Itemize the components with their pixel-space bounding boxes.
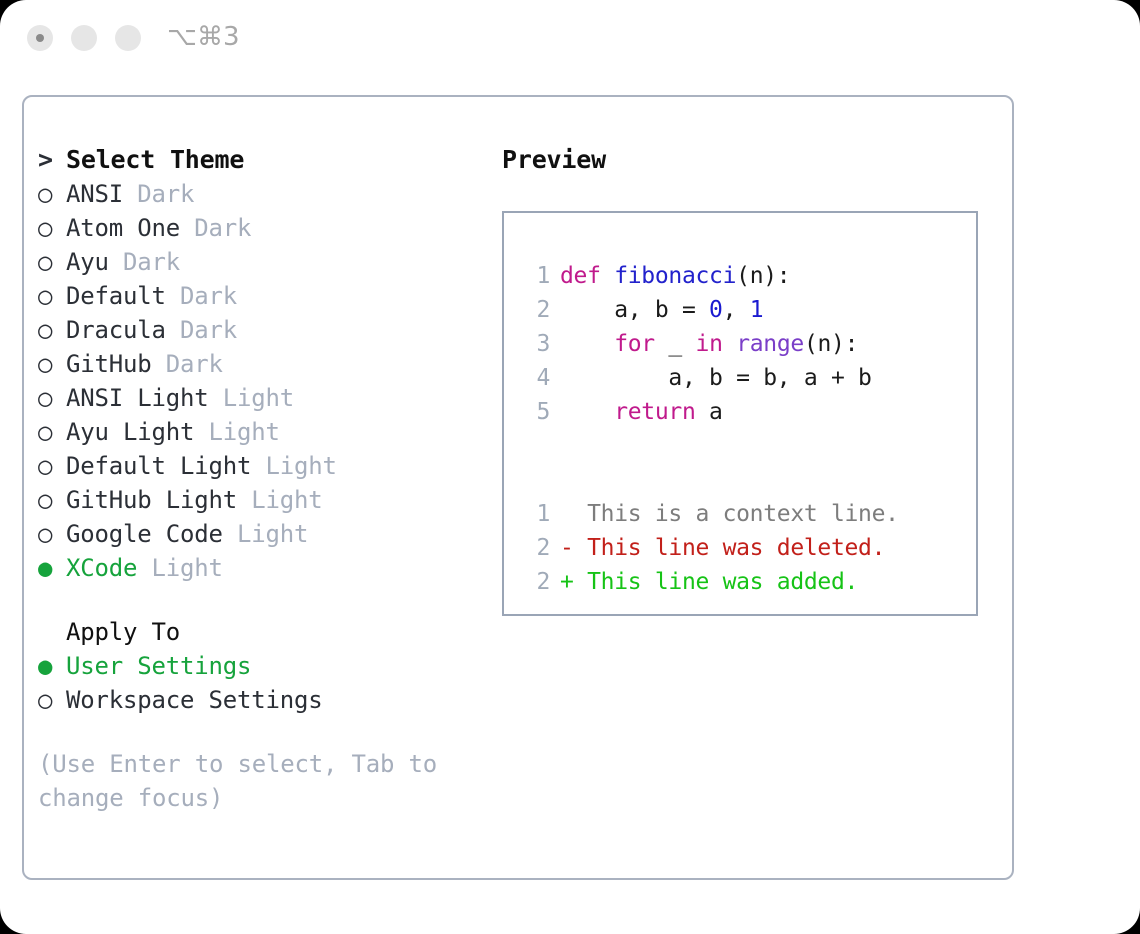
- code-number: 0: [709, 297, 723, 323]
- code-builtin: range: [736, 331, 804, 357]
- diff-sign: [560, 501, 587, 527]
- diff-text: This line was added.: [587, 569, 858, 595]
- preview-title: Preview: [502, 143, 1002, 177]
- code-text: ,: [723, 297, 750, 323]
- diff-line-deleted: 2- This line was deleted.: [504, 531, 976, 565]
- diff-line-context: 1 This is a context line.: [504, 497, 976, 531]
- list-item[interactable]: ○Atom One Dark: [38, 211, 488, 245]
- code-text: a, b = b, a + b: [668, 365, 871, 391]
- list-item[interactable]: ○Ayu Light Light: [38, 415, 488, 449]
- radio-icon[interactable]: ○: [38, 347, 66, 381]
- list-item[interactable]: ○Dracula Dark: [38, 313, 488, 347]
- radio-icon[interactable]: ○: [38, 245, 66, 279]
- code-keyword: def: [560, 263, 614, 289]
- line-number: 2: [526, 531, 550, 565]
- list-item[interactable]: ○GitHub Light Light: [38, 483, 488, 517]
- line-number: 1: [526, 259, 550, 293]
- theme-tag: Light: [266, 452, 337, 480]
- theme-tag: Dark: [180, 282, 237, 310]
- list-item[interactable]: ○Default Light Light: [38, 449, 488, 483]
- theme-name: ANSI Light: [66, 384, 209, 412]
- keyboard-hint: (Use Enter to select, Tab to change focu…: [38, 747, 448, 815]
- code-text: a, b =: [614, 297, 709, 323]
- cursor-marker: >: [38, 143, 66, 177]
- apply-to-option-user[interactable]: ●User Settings: [38, 649, 488, 683]
- code-text: _: [655, 331, 696, 357]
- code-function-name: fibonacci: [614, 263, 736, 289]
- code-text: a: [696, 399, 723, 425]
- spacer: [38, 717, 488, 747]
- radio-icon[interactable]: ○: [38, 683, 66, 717]
- theme-name: Ayu: [66, 248, 109, 276]
- line-number: 5: [526, 395, 550, 429]
- code-line: 4 a, b = b, a + b: [504, 361, 976, 395]
- line-number: 2: [526, 293, 550, 327]
- diff-sign: +: [560, 569, 587, 595]
- code-number: 1: [750, 297, 764, 323]
- theme-name: Atom One: [66, 214, 180, 242]
- close-button[interactable]: [27, 25, 53, 51]
- theme-name: XCode: [66, 554, 137, 582]
- code-line: 5 return a: [504, 395, 976, 429]
- diff-sign: -: [560, 535, 587, 561]
- radio-icon[interactable]: ○: [38, 279, 66, 313]
- code-text: (n):: [736, 263, 790, 289]
- theme-tag: Dark: [137, 180, 194, 208]
- code-indent: [560, 399, 614, 425]
- radio-icon[interactable]: ○: [38, 313, 66, 347]
- radio-icon[interactable]: ○: [38, 211, 66, 245]
- preview-column: Preview 1def fibonacci(n): 2 a, b = 0, 1…: [502, 143, 1002, 616]
- code-text: [723, 331, 737, 357]
- theme-name: GitHub Light: [66, 486, 237, 514]
- radio-icon[interactable]: ○: [38, 483, 66, 517]
- code-line: 2 a, b = 0, 1: [504, 293, 976, 327]
- keyboard-hint-line-2: change focus): [38, 781, 448, 815]
- theme-tag: Dark: [166, 350, 223, 378]
- code-text: (n):: [804, 331, 858, 357]
- line-number: 2: [526, 565, 550, 599]
- window-controls: [27, 25, 141, 51]
- code-keyword: return: [614, 399, 695, 425]
- code-line: 1def fibonacci(n):: [504, 259, 976, 293]
- theme-tag: Light: [237, 520, 308, 548]
- code-indent: [560, 365, 668, 391]
- theme-tag: Light: [209, 418, 280, 446]
- apply-to-option-label: Workspace Settings: [66, 686, 323, 714]
- theme-tag: Dark: [123, 248, 180, 276]
- theme-tag: Light: [223, 384, 294, 412]
- diff-line-added: 2+ This line was added.: [504, 565, 976, 599]
- title-bar: ⌥⌘3: [0, 0, 1140, 78]
- apply-to-option-label: User Settings: [66, 652, 251, 680]
- list-item[interactable]: ○Ayu Dark: [38, 245, 488, 279]
- select-theme-title: Select Theme: [66, 145, 244, 174]
- keyboard-hint-line-1: (Use Enter to select, Tab to: [38, 747, 448, 781]
- theme-name: Ayu Light: [66, 418, 194, 446]
- minimize-button[interactable]: [71, 25, 97, 51]
- list-item[interactable]: ○ANSI Dark: [38, 177, 488, 211]
- theme-name: GitHub: [66, 350, 152, 378]
- radio-icon-selected[interactable]: ●: [38, 649, 66, 683]
- line-number: 1: [526, 497, 550, 531]
- diff-text: This is a context line.: [587, 501, 899, 527]
- select-theme-header: >Select Theme: [38, 143, 488, 177]
- theme-picker-column: >Select Theme ○ANSI Dark ○Atom One Dark …: [38, 143, 488, 815]
- maximize-button[interactable]: [115, 25, 141, 51]
- code-line: 3 for _ in range(n):: [504, 327, 976, 361]
- theme-name: Default Light: [66, 452, 251, 480]
- radio-icon[interactable]: ○: [38, 415, 66, 449]
- list-item[interactable]: ○ANSI Light Light: [38, 381, 488, 415]
- radio-icon[interactable]: ○: [38, 177, 66, 211]
- theme-name: Google Code: [66, 520, 223, 548]
- theme-tag: Dark: [180, 316, 237, 344]
- diff-text: This line was deleted.: [587, 535, 885, 561]
- list-item[interactable]: ○Default Dark: [38, 279, 488, 313]
- theme-name: ANSI: [66, 180, 123, 208]
- radio-icon[interactable]: ○: [38, 381, 66, 415]
- code-keyword: for: [614, 331, 655, 357]
- code-blank-line: [504, 463, 976, 497]
- apply-to-option-workspace[interactable]: ○Workspace Settings: [38, 683, 488, 717]
- spacer: [38, 585, 488, 615]
- code-indent: [560, 331, 614, 357]
- theme-name: Default: [66, 282, 166, 310]
- line-number: 4: [526, 361, 550, 395]
- code-blank-line: [504, 429, 976, 463]
- keyboard-shortcut-label: ⌥⌘3: [167, 22, 240, 52]
- line-number: 3: [526, 327, 550, 361]
- theme-tag: Dark: [194, 214, 251, 242]
- code-keyword: in: [696, 331, 723, 357]
- radio-icon[interactable]: ○: [38, 517, 66, 551]
- list-item[interactable]: ○GitHub Dark: [38, 347, 488, 381]
- list-item[interactable]: ○Google Code Light: [38, 517, 488, 551]
- theme-tag: Light: [251, 486, 322, 514]
- list-item-selected[interactable]: ●XCode Light: [38, 551, 488, 585]
- apply-to-label: Apply To: [38, 615, 488, 649]
- theme-name: Dracula: [66, 316, 166, 344]
- main-panel: >Select Theme ○ANSI Dark ○Atom One Dark …: [22, 95, 1014, 880]
- code-indent: [560, 297, 614, 323]
- app-window: ⌥⌘3 >Select Theme ○ANSI Dark ○Atom One D…: [0, 0, 1140, 934]
- radio-icon[interactable]: ○: [38, 449, 66, 483]
- radio-icon-selected[interactable]: ●: [38, 551, 66, 585]
- preview-box: 1def fibonacci(n): 2 a, b = 0, 1 3 for _…: [502, 211, 978, 616]
- theme-tag: Light: [152, 554, 223, 582]
